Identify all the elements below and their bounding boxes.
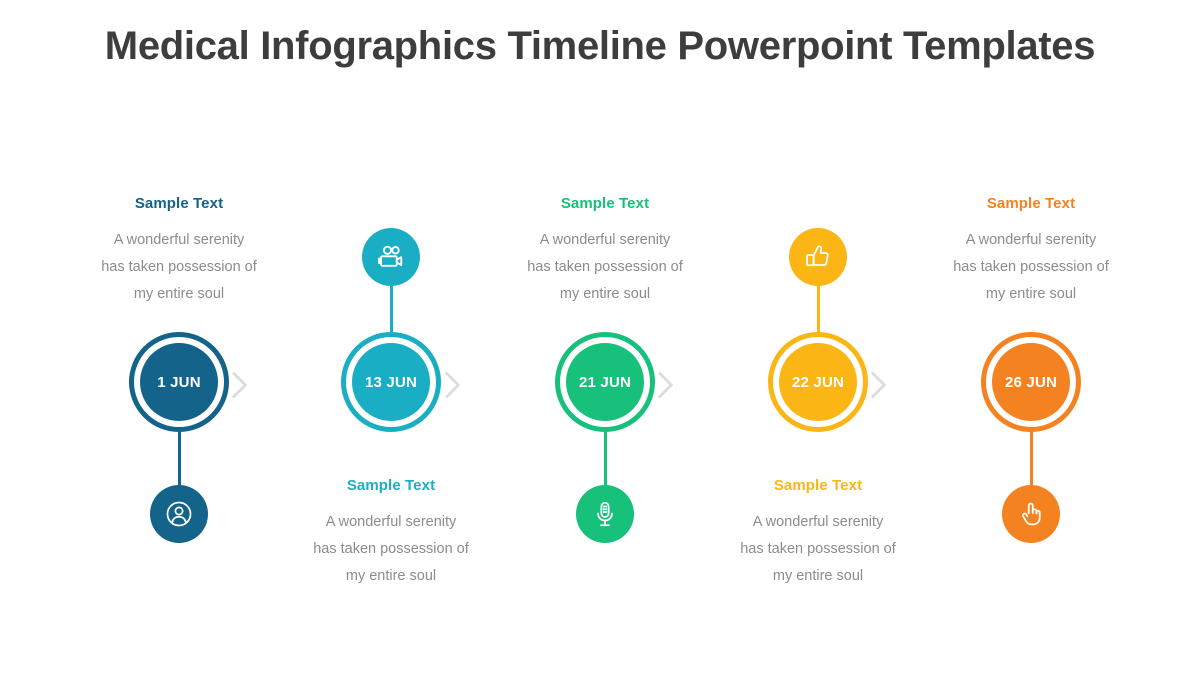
node-ring-inner: 21 JUN [566,343,644,421]
node-date-label: 1 JUN [157,374,201,391]
timeline-node-2[interactable]: 13 JUN Sample Text A wonderful serenity … [283,155,499,625]
node-text-block: Sample Text A wonderful serenity has tak… [923,195,1139,308]
node-ring-inner: 26 JUN [992,343,1070,421]
node-date-label: 21 JUN [579,374,631,391]
node-heading: Sample Text [283,477,499,494]
thumbs-up-icon [803,242,833,272]
pointing-hand-icon-bubble[interactable] [1002,485,1060,543]
node-body-line-3: my entire soul [71,281,287,308]
node-heading: Sample Text [497,195,713,212]
node-body-line-2: has taken possession of [710,536,926,563]
node-ring-inner: 13 JUN [352,343,430,421]
page-title: Medical Infographics Timeline Powerpoint… [0,24,1200,69]
node-heading: Sample Text [710,477,926,494]
node-date-bubble[interactable]: 1 JUN [129,332,229,432]
node-connector-line [390,285,393,337]
node-body-line-1: A wonderful serenity [497,227,713,254]
node-body-line-1: A wonderful serenity [923,227,1139,254]
node-body-line-3: my entire soul [923,281,1139,308]
node-date-bubble[interactable]: 22 JUN [768,332,868,432]
timeline-node-3[interactable]: Sample Text A wonderful serenity has tak… [497,155,713,625]
node-text-block: Sample Text A wonderful serenity has tak… [71,195,287,308]
node-connector-line [817,285,820,337]
node-text-block: Sample Text A wonderful serenity has tak… [497,195,713,308]
timeline-container: Sample Text A wonderful serenity has tak… [60,155,1140,625]
microphone-icon-bubble[interactable] [576,485,634,543]
node-body-line-1: A wonderful serenity [710,509,926,536]
node-body-line-3: my entire soul [283,563,499,590]
node-date-label: 13 JUN [365,374,417,391]
node-heading: Sample Text [71,195,287,212]
chevron-right-icon-4 [865,368,891,402]
node-date-bubble[interactable]: 26 JUN [981,332,1081,432]
user-icon-bubble[interactable] [150,485,208,543]
infographic-slide: Medical Infographics Timeline Powerpoint… [0,0,1200,675]
node-body-line-2: has taken possession of [497,254,713,281]
chevron-right-icon-1 [226,368,252,402]
chevron-right-icon [439,368,465,402]
chevron-right-icon-2 [439,368,465,402]
node-text-block: Sample Text A wonderful serenity has tak… [710,477,926,590]
node-body-line-2: has taken possession of [923,254,1139,281]
node-date-label: 22 JUN [792,374,844,391]
node-ring-inner: 1 JUN [140,343,218,421]
node-body-line-3: my entire soul [710,563,926,590]
user-icon [164,499,194,529]
pointing-hand-icon [1016,499,1046,529]
node-date-bubble[interactable]: 21 JUN [555,332,655,432]
chevron-right-icon [865,368,891,402]
video-camera-icon-bubble[interactable] [362,228,420,286]
node-text-block: Sample Text A wonderful serenity has tak… [283,477,499,590]
chevron-right-icon [226,368,252,402]
node-date-label: 26 JUN [1005,374,1057,391]
node-body-line-2: has taken possession of [283,536,499,563]
microphone-icon [590,499,620,529]
node-body-line-1: A wonderful serenity [71,227,287,254]
chevron-right-icon [652,368,678,402]
node-heading: Sample Text [923,195,1139,212]
thumbs-up-icon-bubble[interactable] [789,228,847,286]
node-body-line-2: has taken possession of [71,254,287,281]
node-date-bubble[interactable]: 13 JUN [341,332,441,432]
timeline-node-1[interactable]: Sample Text A wonderful serenity has tak… [71,155,287,625]
video-camera-icon [376,242,406,272]
chevron-right-icon-3 [652,368,678,402]
timeline-node-5[interactable]: Sample Text A wonderful serenity has tak… [923,155,1139,625]
timeline-node-4[interactable]: 22 JUN Sample Text A wonderful serenity … [710,155,926,625]
node-body-line-1: A wonderful serenity [283,509,499,536]
node-body-line-3: my entire soul [497,281,713,308]
node-ring-inner: 22 JUN [779,343,857,421]
